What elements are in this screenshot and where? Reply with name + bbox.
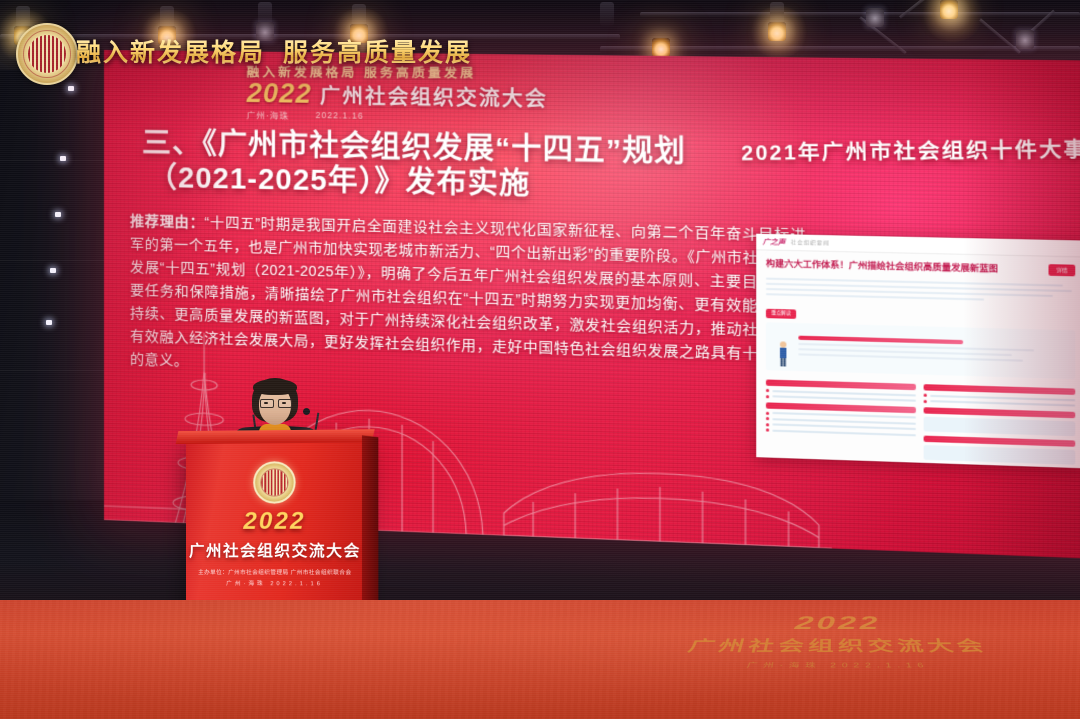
stage-spotlight <box>866 8 884 27</box>
stage-light-housing <box>600 2 614 26</box>
association-emblem-icon <box>16 23 78 85</box>
floor-watermark-sub: 广州·海珠 2022.1.16 <box>661 660 1014 669</box>
stage-spotlight <box>652 38 670 57</box>
wall-led-dot <box>60 156 66 161</box>
podium-conference-name: 广州社会组织交流大会 <box>186 539 364 561</box>
lighting-truss <box>600 46 1080 53</box>
overlay-slogan-part2: 服务高质量发展 <box>283 39 472 67</box>
overlay-slogan-part1: 融入新发展格局 <box>76 39 265 67</box>
association-emblem-icon <box>253 461 295 504</box>
microphone-head-icon <box>303 408 310 415</box>
podium-place-date: 广州·海珠 2022.1.16 <box>186 579 364 587</box>
stage-spotlight <box>768 22 786 41</box>
speaker-glasses-icon <box>260 399 290 406</box>
podium-organizers: 主办单位：广州市社会组织管理局 广州市社会组织联合会 <box>186 568 364 576</box>
speaker-fringe <box>253 379 297 395</box>
wall-led-dot <box>68 86 74 91</box>
overlay-slogan: 融入新发展格局服务高质量发展 <box>76 33 472 69</box>
floor-watermark-year: 2022 <box>679 614 996 632</box>
floor-watermark-name: 广州社会组织交流大会 <box>668 634 1008 656</box>
wall-led-dot <box>55 212 61 217</box>
stage-spotlight <box>940 0 958 19</box>
wall-led-dot <box>46 320 52 325</box>
conference-stage-photo: 融入新发展格局 服务高质量发展 2022 广州社会组织交流大会 广州·海珠 20… <box>0 0 1080 719</box>
stage-spotlight <box>1016 30 1034 49</box>
podium-top-surface <box>176 429 375 444</box>
floor-watermark: 2022 广州社会组织交流大会 广州·海珠 2022.1.16 <box>661 614 1014 670</box>
podium-year: 2022 <box>186 509 364 534</box>
wall-led-dot <box>50 268 56 273</box>
